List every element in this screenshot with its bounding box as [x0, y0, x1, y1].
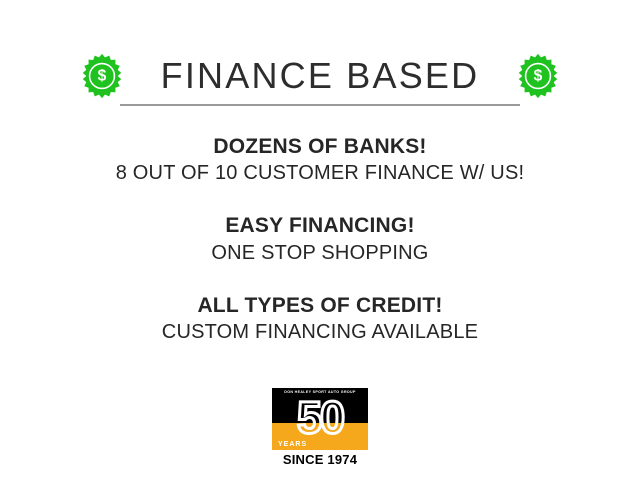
copy-subline: ONE STOP SHOPPING — [0, 240, 640, 266]
money-gear-icon: $ — [515, 53, 561, 99]
svg-text:$: $ — [534, 68, 543, 85]
finance-based-slide: $ FINANCE BASED $ DOZENS OF BANKS! 8 OUT… — [0, 0, 640, 480]
copy-headline: DOZENS OF BANKS! — [0, 133, 640, 160]
title-divider — [120, 104, 520, 106]
money-gear-icon: $ — [79, 53, 125, 99]
logo-since-label: SINCE 1974 — [272, 450, 368, 466]
copy-subline: CUSTOM FINANCING AVAILABLE — [0, 319, 640, 345]
logo-years-label: YEARS — [278, 441, 307, 448]
dealer-logo: DON HEALEY SPORT AUTO GROUP 50 YEARS SIN… — [272, 388, 368, 466]
svg-text:$: $ — [97, 68, 106, 85]
copy-block: DOZENS OF BANKS! 8 OUT OF 10 CUSTOMER FI… — [0, 133, 640, 186]
header: $ FINANCE BASED $ — [0, 48, 640, 104]
copy-headline: EASY FINANCING! — [0, 212, 640, 239]
logo-badge: DON HEALEY SPORT AUTO GROUP 50 YEARS — [272, 388, 368, 450]
copy-subline: 8 OUT OF 10 CUSTOMER FINANCE W/ US! — [0, 160, 640, 186]
body-copy: DOZENS OF BANKS! 8 OUT OF 10 CUSTOMER FI… — [0, 133, 640, 345]
logo-anniversary-number: 50 — [272, 395, 368, 440]
page-title: FINANCE BASED — [161, 58, 480, 94]
copy-headline: ALL TYPES OF CREDIT! — [0, 292, 640, 319]
copy-block: EASY FINANCING! ONE STOP SHOPPING — [0, 212, 640, 265]
copy-block: ALL TYPES OF CREDIT! CUSTOM FINANCING AV… — [0, 292, 640, 345]
